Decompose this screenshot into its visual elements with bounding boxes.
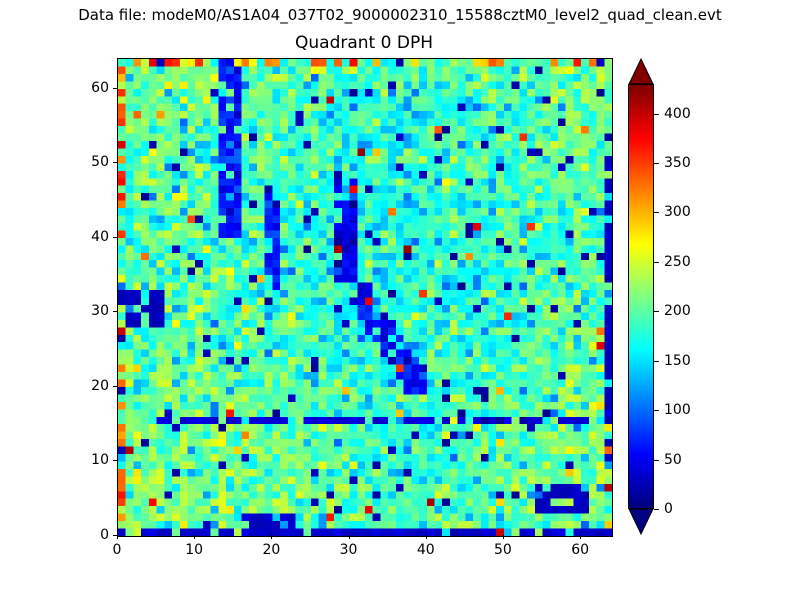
colorbar-tick-label: 100 (664, 402, 691, 418)
x-tick (271, 535, 272, 539)
y-tick (113, 162, 117, 163)
y-tick-label: 10 (75, 452, 109, 468)
heatmap-plot-area[interactable] (117, 58, 613, 537)
colorbar-tick-label: 200 (664, 303, 691, 319)
x-tick (349, 535, 350, 539)
colorbar-gradient[interactable] (628, 84, 654, 509)
y-tick (113, 460, 117, 461)
y-tick (113, 386, 117, 387)
colorbar-tick-label: 300 (664, 204, 691, 220)
y-tick-label: 20 (75, 378, 109, 394)
colorbar-tick-label: 250 (664, 254, 691, 270)
x-tick-label: 60 (571, 542, 589, 558)
colorbar[interactable]: 050100150200250300350400 (628, 58, 654, 535)
x-tick-label: 10 (185, 542, 203, 558)
x-tick-label: 20 (262, 542, 280, 558)
colorbar-over-arrow-icon (628, 58, 654, 85)
y-tick (113, 535, 117, 536)
colorbar-tick (654, 311, 659, 312)
y-tick-label: 0 (75, 527, 109, 543)
colorbar-tick-label: 150 (664, 353, 691, 369)
y-tick (113, 237, 117, 238)
x-tick-label: 40 (417, 542, 435, 558)
colorbar-tick-label: 50 (664, 452, 682, 468)
x-tick-label: 50 (494, 542, 512, 558)
y-tick-label: 40 (75, 229, 109, 245)
page-title: Quadrant 0 DPH (117, 33, 611, 53)
y-tick (113, 311, 117, 312)
colorbar-under-arrow-icon (628, 508, 654, 535)
colorbar-tick-label: 400 (664, 106, 691, 122)
x-tick (503, 535, 504, 539)
x-tick (580, 535, 581, 539)
colorbar-tick-label: 0 (664, 501, 673, 517)
colorbar-tick (654, 509, 659, 510)
y-tick-label: 50 (75, 154, 109, 170)
x-tick-label: 30 (340, 542, 358, 558)
colorbar-tick (654, 410, 659, 411)
colorbar-tick-label: 350 (664, 155, 691, 171)
colorbar-tick (654, 361, 659, 362)
colorbar-image (629, 85, 653, 508)
y-tick-label: 60 (75, 80, 109, 96)
y-tick-label: 30 (75, 303, 109, 319)
datafile-label: Data file: modeM0/AS1A04_037T02_90000023… (0, 6, 800, 24)
colorbar-tick (654, 163, 659, 164)
heatmap-image[interactable] (118, 59, 612, 536)
colorbar-tick (654, 262, 659, 263)
x-tick (194, 535, 195, 539)
x-tick (426, 535, 427, 539)
x-tick (117, 535, 118, 539)
figure-canvas: Data file: modeM0/AS1A04_037T02_90000023… (0, 0, 800, 600)
colorbar-tick (654, 212, 659, 213)
x-tick-label: 0 (113, 542, 122, 558)
colorbar-tick (654, 460, 659, 461)
y-tick (113, 88, 117, 89)
colorbar-tick (654, 114, 659, 115)
